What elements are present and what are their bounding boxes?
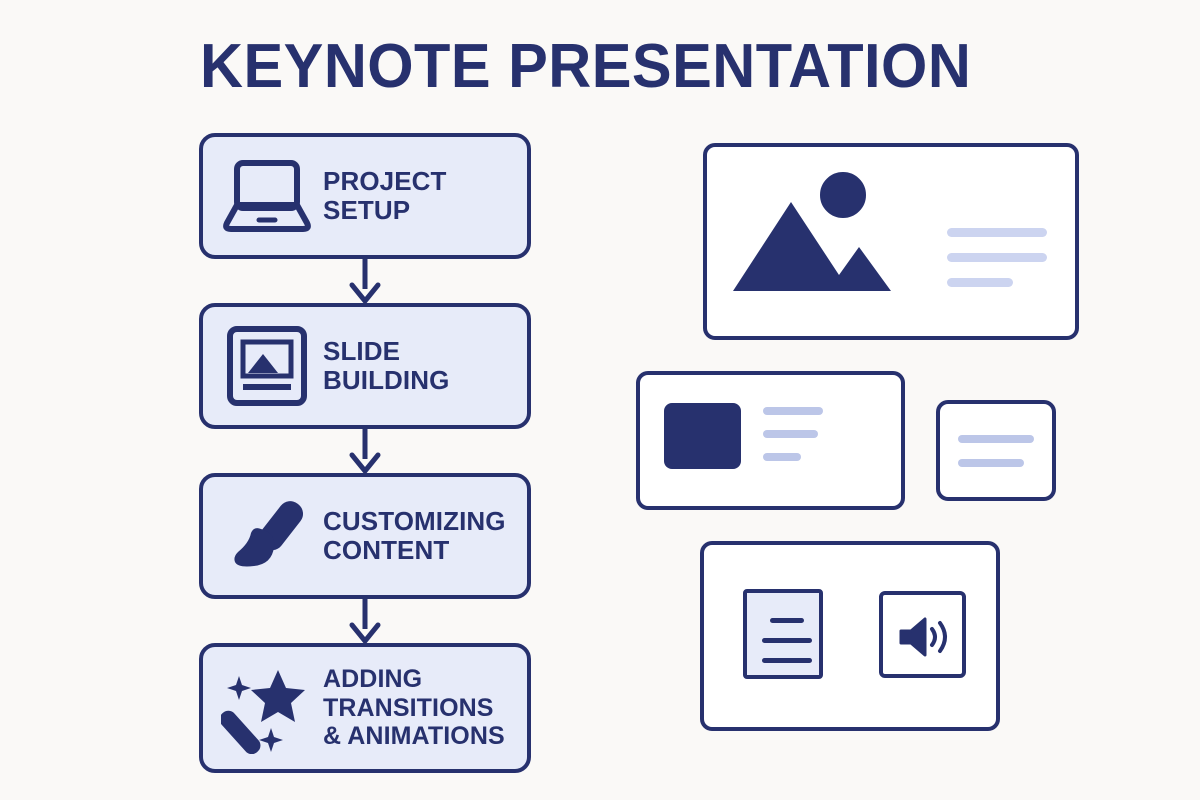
placeholder-line (958, 435, 1034, 443)
process-flow: PROJECT SETUP SLIDE BUILDING (199, 133, 531, 773)
arrow-down-icon-3 (199, 599, 531, 643)
page-title: KEYNOTE PRESENTATION (200, 36, 971, 98)
slide-mockup-document-and-audio[interactable] (700, 541, 1000, 731)
slide-mockup-image-with-text[interactable] (703, 143, 1079, 340)
step-label-line-4: ADDING TRANSITIONS & ANIMATIONS (323, 665, 505, 750)
step-label-line-2: SLIDE BUILDING (323, 336, 449, 395)
placeholder-line (958, 459, 1024, 467)
infographic-canvas: KEYNOTE PRESENTATION PROJECT SETUP (0, 0, 1200, 800)
document-text-line (770, 618, 804, 623)
arrow-down-icon-1 (199, 259, 531, 303)
document-text-line (762, 638, 812, 643)
speaker-icon (897, 615, 953, 659)
image-slide-icon (219, 318, 315, 414)
paintbrush-icon (219, 488, 315, 584)
step-label-line-3: CUSTOMIZING CONTENT (323, 506, 506, 565)
step-label-slide-building: SLIDE BUILDING (315, 337, 513, 395)
placeholder-line (763, 453, 801, 461)
step-card-project-setup[interactable]: PROJECT SETUP (199, 133, 531, 259)
step-card-customizing-content[interactable]: CUSTOMIZING CONTENT (199, 473, 531, 599)
step-label-project-setup: PROJECT SETUP (315, 167, 513, 225)
slide-mockup-text-only[interactable] (936, 400, 1056, 501)
filled-block-icon (664, 403, 741, 469)
placeholder-line (763, 407, 823, 415)
document-text-line (762, 658, 812, 663)
step-label-adding-transitions: ADDING TRANSITIONS & ANIMATIONS (315, 665, 513, 751)
step-label-customizing-content: CUSTOMIZING CONTENT (315, 507, 513, 565)
placeholder-line (947, 253, 1047, 262)
mountain-sun-graphic (719, 165, 919, 315)
magic-wand-icon (219, 660, 315, 756)
step-card-slide-building[interactable]: SLIDE BUILDING (199, 303, 531, 429)
step-label-line-1: PROJECT SETUP (323, 166, 447, 225)
placeholder-line (947, 278, 1013, 287)
slide-mockup-block-with-text[interactable] (636, 371, 905, 510)
arrow-down-icon-2 (199, 429, 531, 473)
placeholder-line (763, 430, 818, 438)
document-icon (743, 589, 823, 679)
step-card-adding-transitions[interactable]: ADDING TRANSITIONS & ANIMATIONS (199, 643, 531, 773)
laptop-icon (219, 148, 315, 244)
placeholder-line (947, 228, 1047, 237)
audio-tile (879, 591, 966, 678)
